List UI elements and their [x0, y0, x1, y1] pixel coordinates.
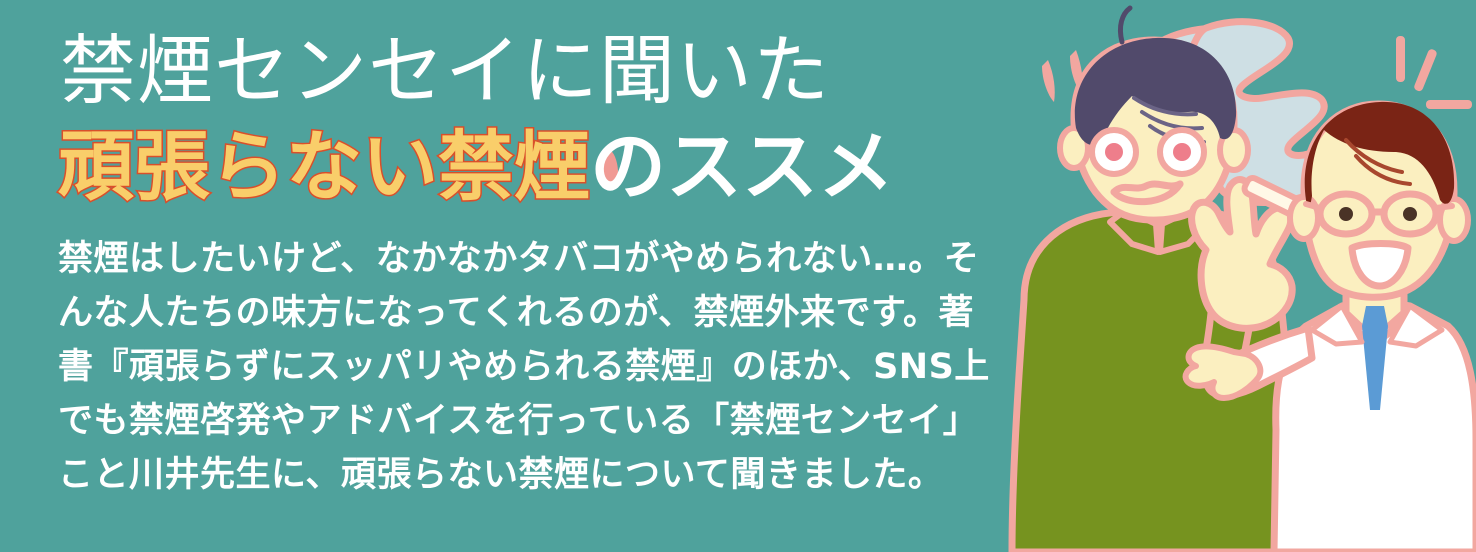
- hero-illustration: [1006, 0, 1476, 552]
- headline-no-character: の: [590, 124, 666, 210]
- headline-gold-text: 頑張らない禁煙: [58, 122, 590, 211]
- headline-tail-text: ススメ: [666, 122, 894, 211]
- body-line: 禁煙はしたいけど、なかなかタバコがやめられない…。そ: [58, 232, 1008, 286]
- headline-line-1: 禁煙センセイに聞いた: [60, 28, 1010, 114]
- body-copy: 禁煙はしたいけど、なかなかタバコがやめられない…。そ んな人たちの味方になってく…: [58, 232, 1008, 502]
- body-line: こと川井先生に、頑張らない禁煙について聞きました。: [58, 448, 1008, 502]
- body-line: 書『頑張らずにスッパリやめられる禁煙』のほか、SNS上: [58, 340, 1008, 394]
- text-column: 禁煙センセイに聞いた 頑張らない禁煙のススメ 禁煙はしたいけど、なかなかタバコが…: [0, 0, 1010, 552]
- doctor-shock-marks-icon: [1396, 36, 1472, 109]
- article-hero-banner: 禁煙センセイに聞いた 頑張らない禁煙のススメ 禁煙はしたいけど、なかなかタバコが…: [0, 0, 1476, 552]
- headline-no-glyph: の: [590, 122, 666, 211]
- body-line: でも禁煙啓発やアドバイスを行っている「禁煙センセイ」: [58, 394, 1008, 448]
- headline-line-2: 頑張らない禁煙のススメ: [58, 124, 1018, 210]
- body-line: んな人たちの味方になってくれるのが、禁煙外来です。著: [58, 286, 1008, 340]
